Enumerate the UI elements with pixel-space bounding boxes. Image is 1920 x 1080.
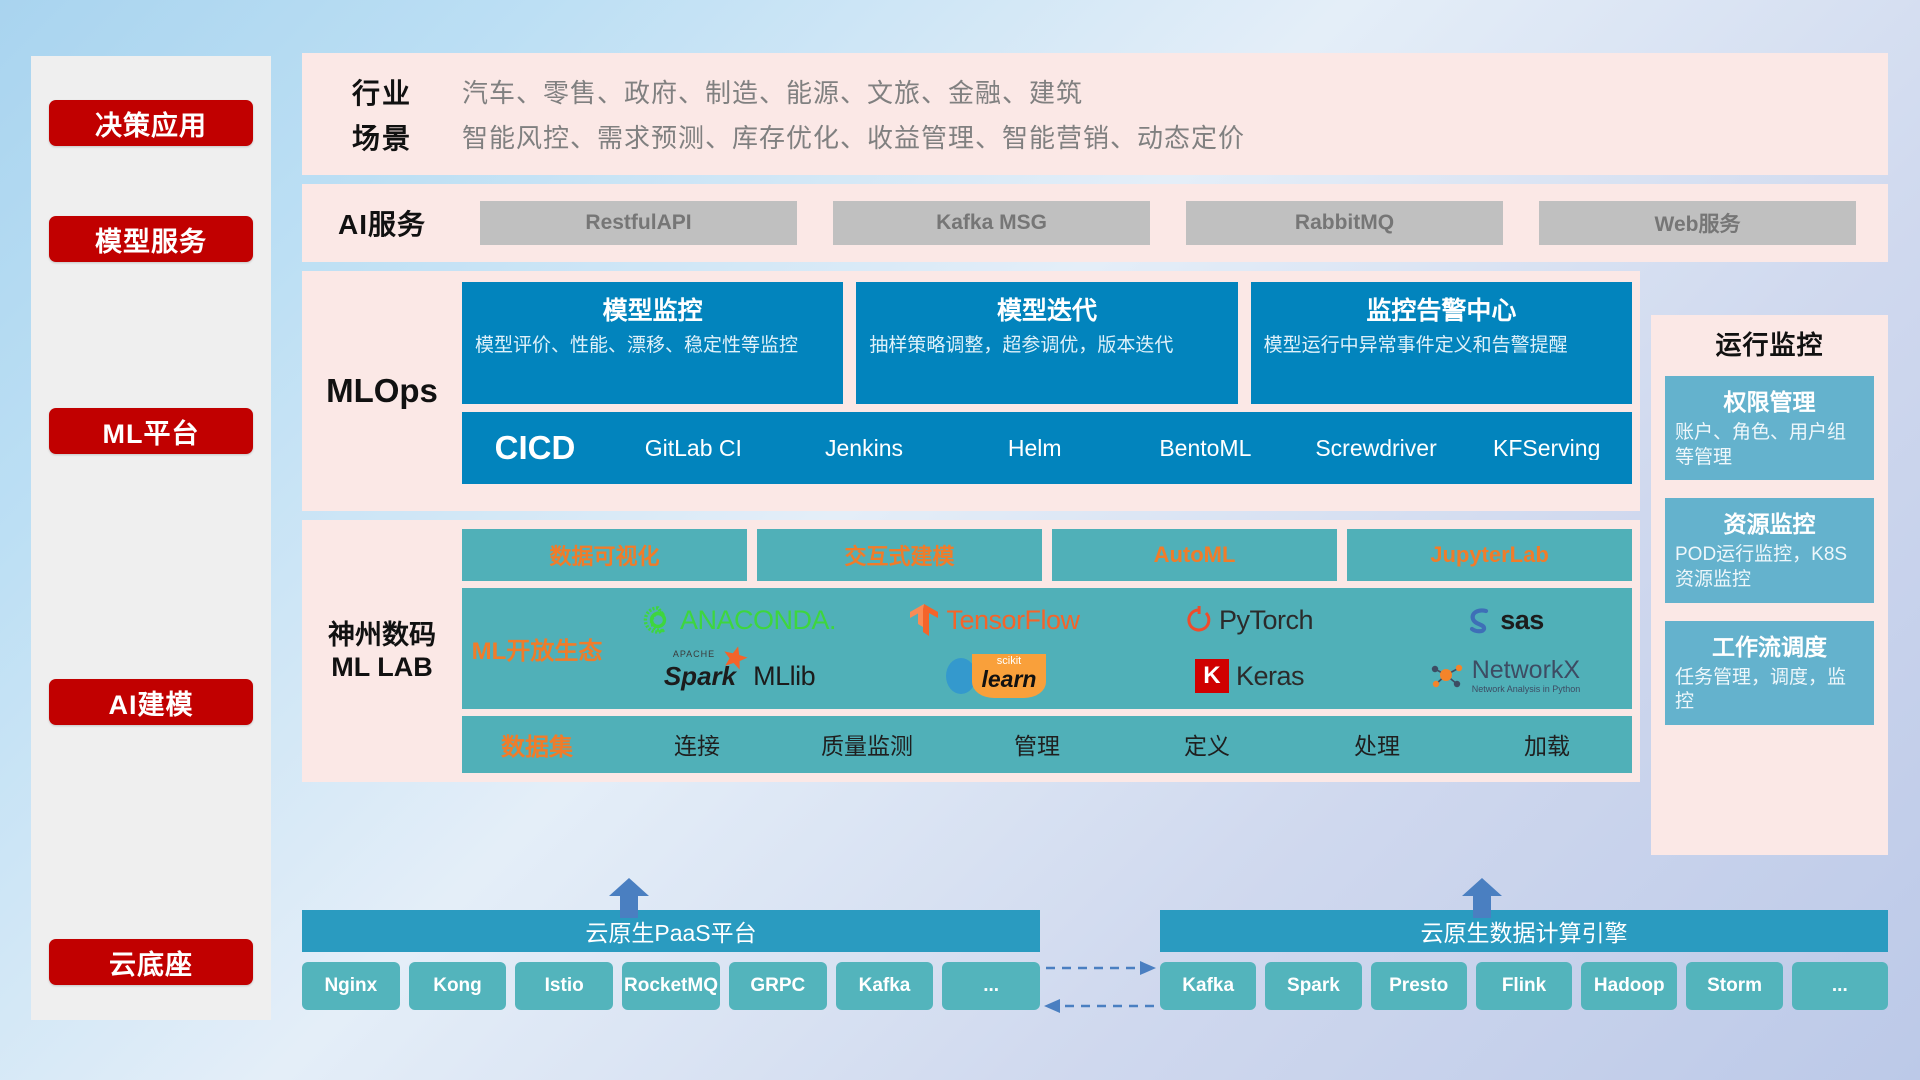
industry-values: 汽车、零售、政府、制造、能源、文旅、金融、建筑 [462, 73, 1083, 110]
cloud-data-header: 云原生数据计算引擎 [1160, 910, 1888, 952]
cloud-chip-kong[interactable]: Kong [409, 962, 507, 1010]
cloud-chip-spark[interactable]: Spark [1265, 962, 1361, 1010]
cloud-paas-group: 云原生PaaS平台 Nginx Kong Istio RocketMQ GRPC… [302, 910, 1040, 1010]
dataset-row: 数据集 连接 质量监测 管理 定义 处理 加载 [462, 716, 1632, 774]
rail-item-decision-apps[interactable]: 决策应用 [49, 100, 253, 146]
dataset-item-connect[interactable]: 连接 [612, 727, 782, 761]
keras-wordmark: Keras [1236, 661, 1304, 692]
monitor-card-workflow[interactable]: 工作流调度 任务管理，调度，监控 [1665, 621, 1874, 725]
cloud-chip-more-data[interactable]: ... [1792, 962, 1888, 1010]
card-title: 工作流调度 [1675, 628, 1864, 662]
rail-label: 决策应用 [95, 104, 207, 143]
tool-tab-data-visualization[interactable]: 数据可视化 [462, 529, 747, 581]
keras-logo: K Keras [1122, 648, 1377, 704]
pytorch-logo: PyTorch [1122, 592, 1377, 648]
spark-apache-text: APACHE [673, 649, 715, 659]
sas-icon [1465, 606, 1493, 634]
scenario-values: 智能风控、需求预测、库存优化、收益管理、智能营销、动态定价 [462, 118, 1245, 155]
cicd-item-jenkins[interactable]: Jenkins [779, 436, 950, 460]
networkx-wordmark: NetworkX [1472, 656, 1580, 684]
cicd-item-bentoml[interactable]: BentoML [1120, 436, 1291, 460]
architecture-diagram: 决策应用 模型服务 ML平台 AI建模 云底座 行业 汽车、零售、政府、制造、能… [0, 0, 1920, 1080]
ml-ecosystem-label: ML开放生态 [462, 631, 612, 666]
up-arrow-icon [607, 878, 651, 918]
cloud-chip-storm[interactable]: Storm [1686, 962, 1782, 1010]
rail-label: ML平台 [103, 412, 200, 451]
anaconda-wordmark: ANACONDA. [680, 605, 836, 636]
spark-mark: APACHE Spark [664, 661, 736, 692]
card-title: 权限管理 [1675, 383, 1864, 417]
anaconda-logo: ANACONDA. [612, 592, 867, 648]
layer-rail: 决策应用 模型服务 ML平台 AI建模 云底座 [31, 56, 271, 1020]
ai-service-label: AI服务 [302, 203, 462, 243]
cicd-row: CICD GitLab CI Jenkins Helm BentoML Scre… [462, 412, 1632, 484]
rail-item-ml-platform[interactable]: ML平台 [49, 408, 253, 454]
tool-tab-interactive-modeling[interactable]: 交互式建模 [757, 529, 1042, 581]
industry-row: 行业 汽车、零售、政府、制造、能源、文旅、金融、建筑 [302, 69, 1888, 114]
tensorflow-logo: TensorFlow [867, 592, 1122, 648]
rail-label: 云底座 [109, 943, 193, 982]
decision-apps-band: 行业 汽车、零售、政府、制造、能源、文旅、金融、建筑 场景 智能风控、需求预测、… [302, 53, 1888, 175]
mlops-body: 模型监控 模型评价、性能、漂移、稳定性等监控 模型迭代 抽样策略调整，超参调优，… [462, 271, 1640, 511]
rail-item-ai-modeling[interactable]: AI建模 [49, 679, 253, 725]
anaconda-icon [643, 605, 673, 635]
ml-lab-band: 神州数码 ML LAB 数据可视化 交互式建模 AutoML JupyterLa… [302, 520, 1640, 782]
monitor-card-resource[interactable]: 资源监控 POD运行监控，K8S资源监控 [1665, 498, 1874, 602]
cloud-chip-presto[interactable]: Presto [1371, 962, 1467, 1010]
mlops-band: MLOps 模型监控 模型评价、性能、漂移、稳定性等监控 模型迭代 抽样策略调整… [302, 271, 1640, 511]
cloud-paas-items: Nginx Kong Istio RocketMQ GRPC Kafka ... [302, 962, 1040, 1010]
cicd-item-helm[interactable]: Helm [949, 436, 1120, 460]
tool-tab-automl[interactable]: AutoML [1052, 529, 1337, 581]
industry-label: 行业 [302, 72, 462, 112]
runtime-monitoring-panel: 运行监控 权限管理 账户、角色、用户组等管理 资源监控 POD运行监控，K8S资… [1651, 315, 1888, 855]
sas-logo: sas [1377, 592, 1632, 648]
rail-item-cloud-base[interactable]: 云底座 [49, 939, 253, 985]
mlops-card-model-monitoring[interactable]: 模型监控 模型评价、性能、漂移、稳定性等监控 [462, 282, 843, 404]
dataset-item-quality[interactable]: 质量监测 [782, 727, 952, 761]
card-title: 模型监控 [475, 291, 830, 327]
up-arrow-icon [1460, 878, 1504, 918]
ai-service-item-web[interactable]: Web服务 [1539, 201, 1856, 245]
dataset-label: 数据集 [462, 727, 612, 762]
networkx-graph-icon [1429, 660, 1465, 692]
mlops-card-model-iteration[interactable]: 模型迭代 抽样策略调整，超参调优，版本迭代 [856, 282, 1237, 404]
scenario-label: 场景 [302, 117, 462, 157]
spark-star-icon [722, 645, 748, 671]
mllib-wordmark: MLlib [753, 661, 815, 692]
mlops-card-list: 模型监控 模型评价、性能、漂移、稳定性等监控 模型迭代 抽样策略调整，超参调优，… [462, 282, 1632, 404]
cicd-item-kfserving[interactable]: KFServing [1461, 436, 1632, 460]
cloud-chip-istio[interactable]: Istio [515, 962, 613, 1010]
cloud-chip-hadoop[interactable]: Hadoop [1581, 962, 1677, 1010]
rail-label: AI建模 [109, 683, 194, 722]
card-desc: POD运行监控，K8S资源监控 [1675, 543, 1864, 592]
ai-service-list: RestfulAPI Kafka MSG RabbitMQ Web服务 [462, 201, 1888, 245]
cloud-chip-flink[interactable]: Flink [1476, 962, 1572, 1010]
ai-service-item-kafka[interactable]: Kafka MSG [833, 201, 1150, 245]
tool-tab-jupyterlab[interactable]: JupyterLab [1347, 529, 1632, 581]
mlops-label: MLOps [302, 271, 462, 511]
card-desc: 任务管理，调度，监控 [1675, 666, 1864, 715]
dataset-item-process[interactable]: 处理 [1292, 727, 1462, 761]
pytorch-icon [1186, 605, 1212, 635]
bidirectional-link-arrows [1040, 910, 1160, 1045]
scenario-row: 场景 智能风控、需求预测、库存优化、收益管理、智能营销、动态定价 [302, 114, 1888, 159]
pytorch-wordmark: PyTorch [1219, 605, 1313, 636]
card-title: 模型迭代 [869, 291, 1224, 327]
tensorflow-wordmark: TensorFlow [946, 605, 1079, 636]
monitor-card-permission[interactable]: 权限管理 账户、角色、用户组等管理 [1665, 376, 1874, 480]
tool-tab-list: 数据可视化 交互式建模 AutoML JupyterLab [462, 529, 1632, 581]
cloud-chip-grpc[interactable]: GRPC [729, 962, 827, 1010]
dataset-item-manage[interactable]: 管理 [952, 727, 1122, 761]
ai-service-item-rabbitmq[interactable]: RabbitMQ [1186, 201, 1503, 245]
card-desc: 抽样策略调整，超参调优，版本迭代 [869, 333, 1224, 358]
ml-ecosystem-logo-grid: ANACONDA. TensorFlow [612, 592, 1632, 704]
ml-lab-body: 数据可视化 交互式建模 AutoML JupyterLab ML开放生态 [462, 520, 1640, 782]
cloud-data-engine-group: 云原生数据计算引擎 Kafka Spark Presto Flink Hadoo… [1160, 910, 1888, 1010]
dataset-item-load[interactable]: 加载 [1462, 727, 1632, 761]
cloud-chip-kafka[interactable]: Kafka [836, 962, 934, 1010]
cloud-chip-nginx[interactable]: Nginx [302, 962, 400, 1010]
cloud-chip-rocketmq[interactable]: RocketMQ [622, 962, 720, 1010]
learn-wordmark: learn [982, 667, 1037, 691]
monitoring-panel-title: 运行监控 [1665, 325, 1874, 362]
networkx-text-block: NetworkX Network Analysis in Python [1472, 658, 1581, 694]
ai-service-band: AI服务 RestfulAPI Kafka MSG RabbitMQ Web服务 [302, 184, 1888, 262]
networkx-tagline: Network Analysis in Python [1472, 685, 1581, 694]
card-desc: 模型评价、性能、漂移、稳定性等监控 [475, 333, 830, 358]
spark-mllib-logo: APACHE Spark MLlib [612, 648, 867, 704]
card-title: 资源监控 [1675, 505, 1864, 539]
scikit-orange-blob: scikit learn [972, 654, 1047, 697]
cloud-chip-more[interactable]: ... [942, 962, 1040, 1010]
ml-lab-label: 神州数码 ML LAB [302, 520, 462, 782]
cloud-base-section: 云原生PaaS平台 Nginx Kong Istio RocketMQ GRPC… [302, 880, 1888, 1045]
ml-lab-label-line2: ML LAB [331, 651, 433, 683]
card-desc: 账户、角色、用户组等管理 [1675, 421, 1864, 470]
tensorflow-icon [909, 603, 939, 637]
card-desc: 模型运行中异常事件定义和告警提醒 [1264, 333, 1619, 358]
cloud-data-items: Kafka Spark Presto Flink Hadoop Storm ..… [1160, 962, 1888, 1010]
ai-service-item-restful[interactable]: RestfulAPI [480, 201, 797, 245]
keras-mark-icon: K [1195, 659, 1229, 693]
ml-lab-label-line1: 神州数码 [328, 619, 436, 651]
rail-label: 模型服务 [95, 220, 207, 259]
cicd-item-gitlab-ci[interactable]: GitLab CI [608, 436, 779, 460]
cicd-item-screwdriver[interactable]: Screwdriver [1291, 436, 1462, 460]
cloud-paas-header: 云原生PaaS平台 [302, 910, 1040, 952]
scikit-learn-logo: scikit learn [867, 648, 1122, 704]
cicd-label: CICD [462, 429, 608, 467]
card-title: 监控告警中心 [1264, 291, 1619, 327]
sas-wordmark: sas [1500, 605, 1544, 636]
ml-ecosystem-row: ML开放生态 ANACONDA. [462, 588, 1632, 709]
mlops-card-alert-center[interactable]: 监控告警中心 模型运行中异常事件定义和告警提醒 [1251, 282, 1632, 404]
rail-item-model-service[interactable]: 模型服务 [49, 216, 253, 262]
cloud-chip-kafka-data[interactable]: Kafka [1160, 962, 1256, 1010]
networkx-logo: NetworkX Network Analysis in Python [1377, 648, 1632, 704]
dataset-item-define[interactable]: 定义 [1122, 727, 1292, 761]
